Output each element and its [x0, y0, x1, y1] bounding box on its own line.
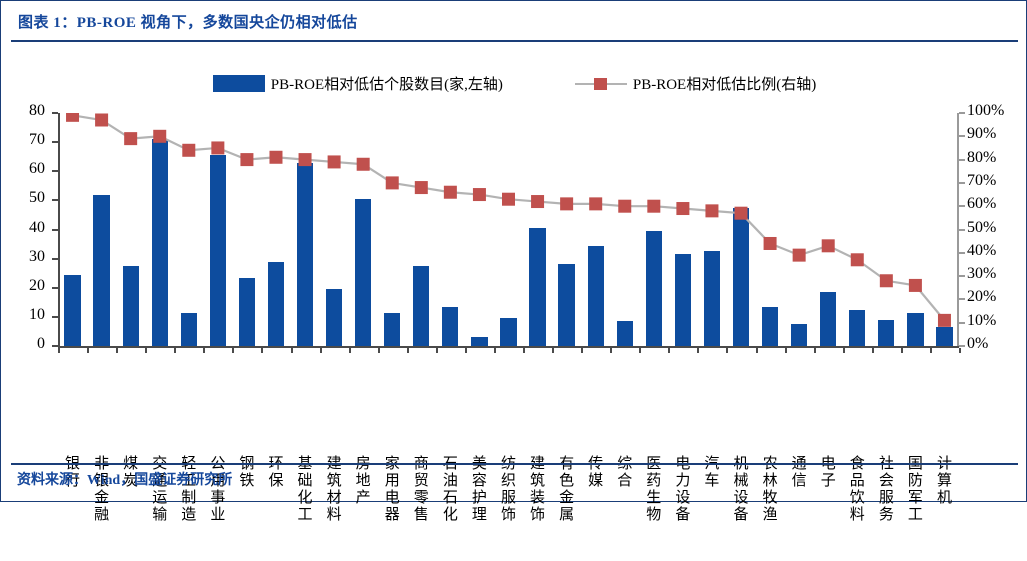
left-axis-tick-label: 30	[1, 248, 45, 266]
x-tick	[523, 348, 525, 353]
right-tick	[959, 205, 965, 207]
x-axis-label: 纺织服饰	[499, 456, 519, 524]
x-axis-label: 综合	[615, 456, 635, 490]
line-marker	[589, 197, 602, 210]
left-axis-tick-label: 60	[1, 160, 45, 178]
x-axis-label: 交通运输	[150, 456, 170, 524]
right-axis-tick-label: 100%	[967, 102, 1025, 120]
x-tick	[58, 348, 60, 353]
left-axis-tick-label: 70	[1, 131, 45, 149]
x-axis-label: 通信	[789, 456, 809, 490]
x-tick	[726, 348, 728, 353]
x-axis-label: 钢铁	[237, 456, 257, 490]
right-axis-tick-label: 10%	[967, 312, 1025, 330]
x-tick	[436, 348, 438, 353]
line-series-layer	[58, 113, 959, 346]
line-marker	[647, 200, 660, 213]
x-axis-label: 轻工制造	[179, 456, 199, 524]
x-tick	[87, 348, 89, 353]
line-marker	[851, 253, 864, 266]
line-marker	[764, 237, 777, 250]
x-axis-label: 有色金属	[557, 456, 577, 524]
line-marker	[357, 158, 370, 171]
left-axis-tick-label: 20	[1, 277, 45, 295]
line-marker	[822, 239, 835, 252]
line-marker	[735, 207, 748, 220]
legend-item-line: PB-ROE相对低估比例(右轴)	[575, 73, 816, 94]
x-tick	[261, 348, 263, 353]
line-marker	[444, 186, 457, 199]
x-tick	[843, 348, 845, 353]
line-marker	[182, 144, 195, 157]
legend-label-bars: PB-ROE相对低估个股数目(家,左轴)	[271, 73, 503, 94]
left-axis-tick-label: 0	[1, 335, 45, 353]
right-tick	[959, 229, 965, 231]
footer-divider	[11, 463, 1018, 465]
x-axis-label: 环保	[266, 456, 286, 490]
x-tick	[581, 348, 583, 353]
x-axis-label: 社会服务	[876, 456, 896, 524]
x-tick	[349, 348, 351, 353]
line-marker	[502, 193, 515, 206]
bottom-axis	[58, 346, 959, 348]
x-tick	[814, 348, 816, 353]
x-axis-label: 电力设备	[673, 456, 693, 524]
x-tick	[407, 348, 409, 353]
x-tick	[901, 348, 903, 353]
line-marker	[560, 197, 573, 210]
right-tick	[959, 135, 965, 137]
line-marker	[793, 249, 806, 262]
x-axis-label: 建筑装饰	[528, 456, 548, 524]
line-marker	[880, 274, 893, 287]
right-axis-tick-label: 70%	[967, 172, 1025, 190]
x-tick	[320, 348, 322, 353]
x-tick	[610, 348, 612, 353]
line-marker	[531, 195, 544, 208]
x-tick	[697, 348, 699, 353]
x-tick	[465, 348, 467, 353]
x-tick	[145, 348, 147, 353]
x-tick	[378, 348, 380, 353]
line-marker	[676, 202, 689, 215]
x-axis-label: 电子	[818, 456, 838, 490]
right-tick	[959, 112, 965, 114]
right-axis-tick-label: 20%	[967, 288, 1025, 306]
x-tick	[494, 348, 496, 353]
left-axis-tick-label: 40	[1, 219, 45, 237]
x-axis-label: 农林牧渔	[760, 456, 780, 524]
left-axis-tick-label: 50	[1, 189, 45, 207]
line-marker	[938, 314, 951, 327]
line-marker	[124, 132, 137, 145]
line-marker	[95, 113, 108, 126]
source-note: 资料来源：Wind，国盛证券研究所	[17, 469, 232, 489]
right-tick	[959, 159, 965, 161]
x-tick	[872, 348, 874, 353]
line-marker-swatch-icon	[575, 75, 627, 92]
left-axis-tick-label: 10	[1, 306, 45, 324]
line-marker	[269, 151, 282, 164]
right-tick	[959, 275, 965, 277]
x-axis-label: 商贸零售	[411, 456, 431, 524]
right-axis-tick-label: 90%	[967, 125, 1025, 143]
x-tick	[203, 348, 205, 353]
right-axis-tick-label: 50%	[967, 219, 1025, 237]
title-divider	[11, 40, 1018, 42]
x-axis-label: 传媒	[586, 456, 606, 490]
x-tick	[668, 348, 670, 353]
x-axis-label: 家用电器	[382, 456, 402, 524]
line-series	[58, 113, 959, 346]
x-axis-label: 美容护理	[469, 456, 489, 524]
right-tick	[959, 345, 965, 347]
right-axis-tick-label: 0%	[967, 335, 1025, 353]
title-bar: 图表 1：PB-ROE 视角下，多数国央企仍相对低估	[2, 2, 1027, 40]
x-tick	[959, 348, 961, 353]
x-axis-label: 建筑材料	[324, 456, 344, 524]
page-title: 图表 1：PB-ROE 视角下，多数国央企仍相对低估	[18, 11, 358, 32]
right-axis-tick-label: 80%	[967, 149, 1025, 167]
x-axis-label: 石油石化	[440, 456, 460, 524]
plot-area: 01020304050607080 0%10%20%30%40%50%60%70…	[1, 101, 1027, 361]
line-marker	[618, 200, 631, 213]
line-marker	[386, 176, 399, 189]
right-axis-tick-label: 30%	[967, 265, 1025, 283]
right-axis-tick-label: 40%	[967, 242, 1025, 260]
x-tick	[785, 348, 787, 353]
bar-swatch-icon	[213, 75, 265, 92]
x-tick	[639, 348, 641, 353]
x-tick	[291, 348, 293, 353]
x-axis-label: 国防军工	[905, 456, 925, 524]
line-marker	[328, 155, 341, 168]
chart-frame: 图表 1：PB-ROE 视角下，多数国央企仍相对低估 PB-ROE相对低估个股数…	[0, 0, 1027, 502]
line-marker	[299, 153, 312, 166]
right-tick	[959, 322, 965, 324]
right-tick	[959, 298, 965, 300]
line-marker	[66, 113, 79, 122]
legend-label-line: PB-ROE相对低估比例(右轴)	[633, 73, 816, 94]
legend-item-bars: PB-ROE相对低估个股数目(家,左轴)	[213, 73, 503, 94]
line-marker	[211, 141, 224, 154]
chart-legend: PB-ROE相对低估个股数目(家,左轴) PB-ROE相对低估比例(右轴)	[1, 69, 1027, 97]
right-tick	[959, 252, 965, 254]
x-tick	[930, 348, 932, 353]
x-tick	[116, 348, 118, 353]
x-axis-label: 非银金融	[92, 456, 112, 524]
x-axis-label: 汽车	[702, 456, 722, 490]
x-tick	[232, 348, 234, 353]
x-axis-label: 医药生物	[644, 456, 664, 524]
line-marker	[909, 279, 922, 292]
right-tick	[959, 182, 965, 184]
right-axis-tick-label: 60%	[967, 195, 1025, 213]
line-marker	[240, 153, 253, 166]
line-path	[73, 115, 945, 320]
line-marker	[415, 181, 428, 194]
line-marker	[153, 130, 166, 143]
x-axis-label: 食品饮料	[847, 456, 867, 524]
x-axis-label: 机械设备	[731, 456, 751, 524]
line-marker	[705, 204, 718, 217]
x-tick	[756, 348, 758, 353]
line-marker	[473, 188, 486, 201]
x-tick	[174, 348, 176, 353]
left-axis-tick-label: 80	[1, 102, 45, 120]
x-axis-label: 基础化工	[295, 456, 315, 524]
x-tick	[552, 348, 554, 353]
x-axis-label: 公用事业	[208, 456, 228, 524]
